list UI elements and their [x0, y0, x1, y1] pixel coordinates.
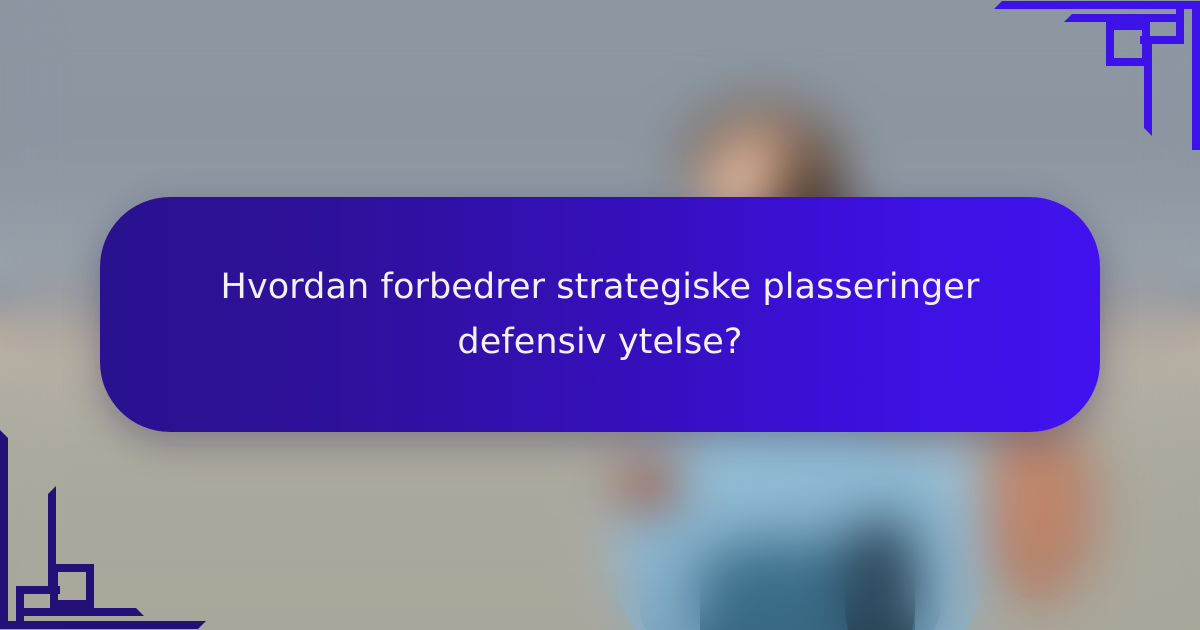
question-title: Hvordan forbedrer strategiske plassering…: [210, 260, 990, 369]
question-card: Hvordan forbedrer strategiske plassering…: [100, 197, 1100, 432]
thumbnail-canvas: Hvordan forbedrer strategiske plassering…: [0, 0, 1200, 630]
